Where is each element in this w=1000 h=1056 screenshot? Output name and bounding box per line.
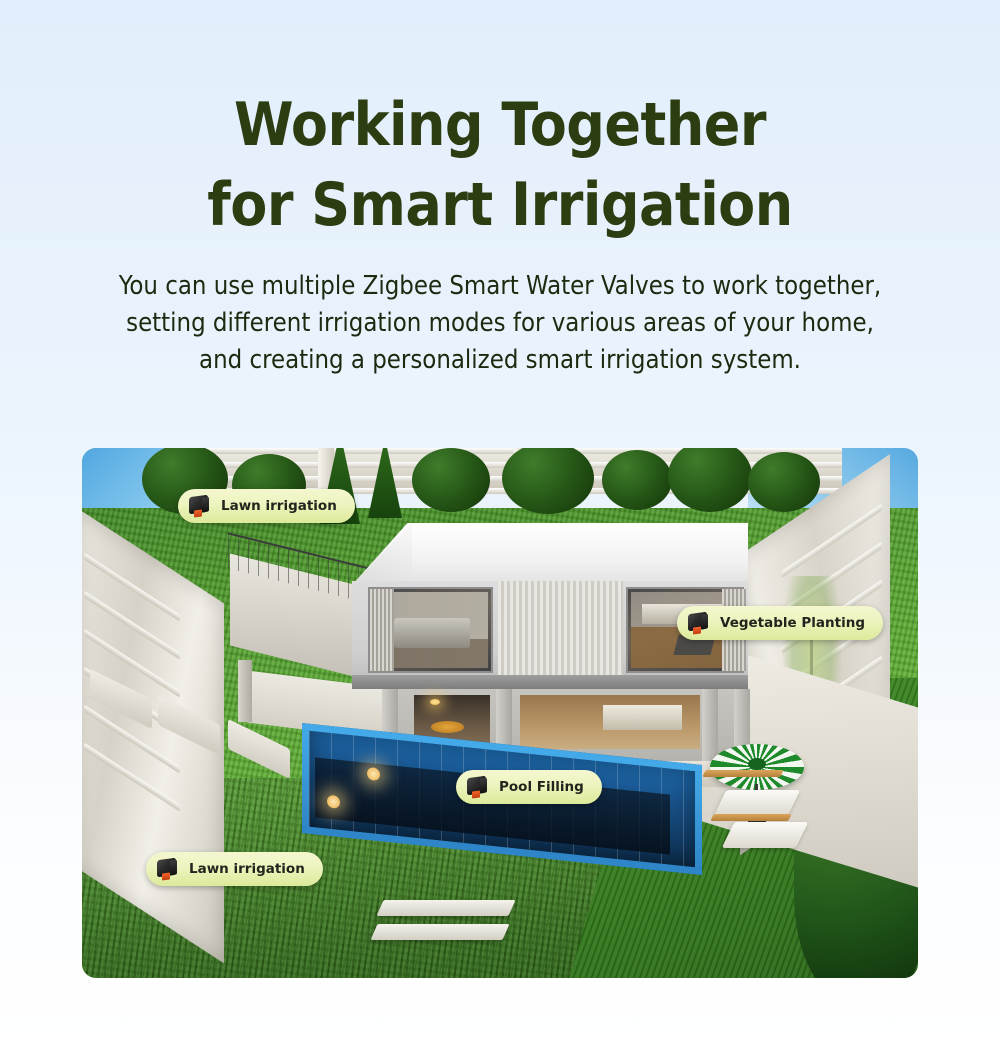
tree-icon: [748, 452, 820, 512]
ceiling-lamp-icon: [430, 699, 440, 705]
callout-label: Lawn irrigation: [189, 861, 305, 877]
water-valve-icon: [186, 494, 212, 518]
page-title: Working Together for Smart Irrigation: [0, 86, 1000, 246]
pool-light-icon: [367, 767, 380, 781]
stepping-stone: [370, 924, 509, 940]
lounge-chair-frame: [702, 770, 783, 777]
tree-icon: [412, 448, 490, 512]
water-valve-icon: [464, 775, 490, 799]
floor-divider-band: [352, 675, 748, 689]
callout-pool-filling[interactable]: Pool Filling: [456, 770, 602, 804]
page-title-line1: Working Together: [234, 90, 766, 160]
callout-label: Pool Filling: [499, 779, 584, 795]
lounge-chair: [714, 790, 801, 816]
facade-ribbed-panel: [498, 581, 623, 683]
callout-lawn-irrigation-bottom[interactable]: Lawn irrigation: [146, 852, 323, 886]
lounge-chair: [722, 822, 809, 848]
callout-label: Vegetable Planting: [720, 615, 865, 631]
patio-umbrella: [710, 744, 804, 790]
stepping-stone: [376, 900, 515, 916]
lounge-chair-frame: [710, 814, 791, 821]
callout-vegetable-planting[interactable]: Vegetable Planting: [677, 606, 883, 640]
page-subtitle-line2: setting different irrigation modes for v…: [0, 305, 1000, 342]
page-title-line2: for Smart Irrigation: [0, 166, 1000, 246]
callout-label: Lawn irrigation: [221, 498, 337, 514]
pool-light-icon: [327, 795, 340, 809]
tree-icon: [602, 450, 672, 510]
water-valve-icon: [154, 857, 180, 881]
page-subtitle-line1: You can use multiple Zigbee Smart Water …: [0, 268, 1000, 305]
water-valve-icon: [685, 611, 711, 635]
terrace-column: [238, 660, 252, 722]
page-subtitle: You can use multiple Zigbee Smart Water …: [0, 268, 1000, 380]
callout-lawn-irrigation-top[interactable]: Lawn irrigation: [178, 489, 355, 523]
illustration-photo: Lawn irrigation Vegetable Planting Pool …: [82, 448, 918, 978]
window-blinds: [370, 589, 394, 671]
page-header: Working Together for Smart Irrigation Yo…: [0, 0, 1000, 379]
page-subtitle-line3: and creating a personalized smart irriga…: [0, 342, 1000, 379]
ground-kitchen-dining: [520, 695, 700, 749]
